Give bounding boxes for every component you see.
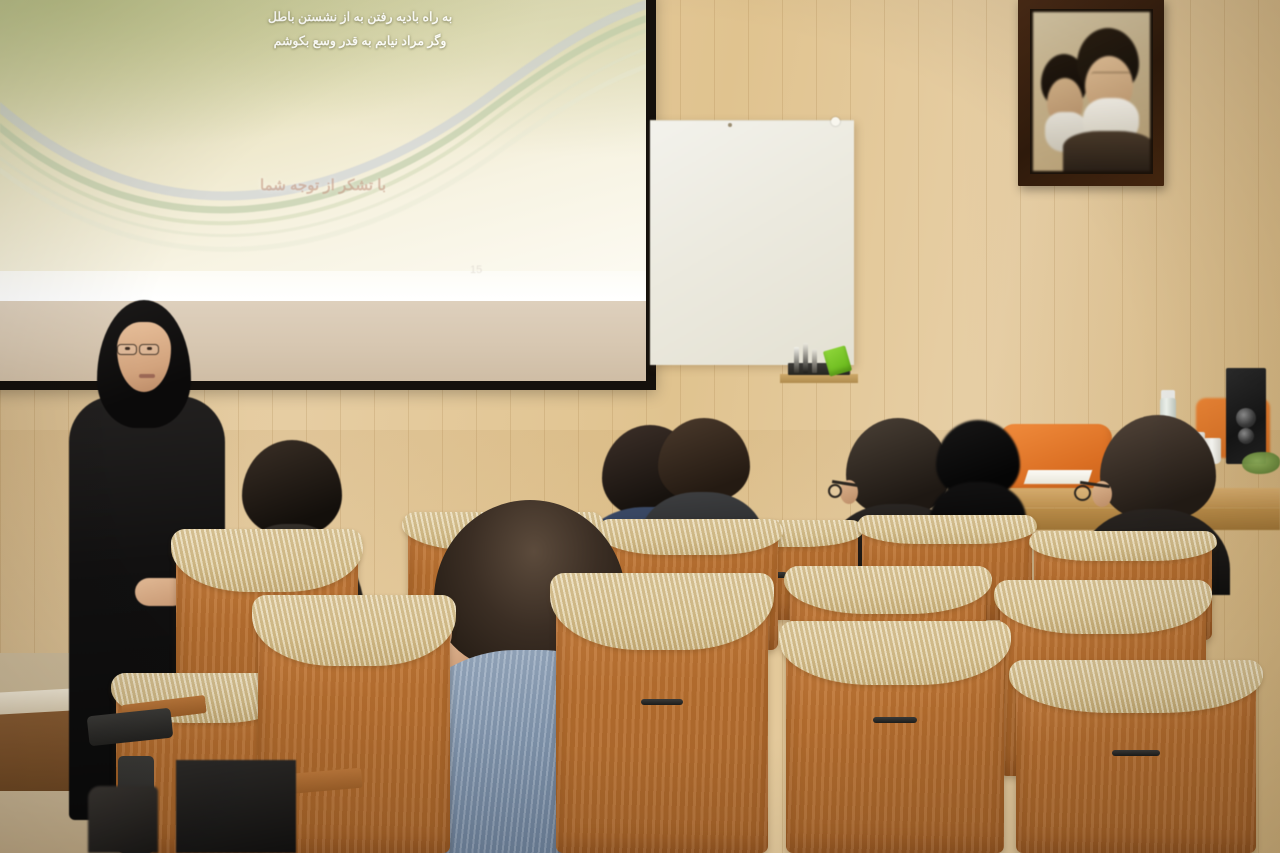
- conference-room-photo: به راه بادیه رفتن به از نشستن باطل وگر م…: [0, 0, 1280, 853]
- presenter-mouth: [139, 374, 155, 378]
- attendee-far-right-hair: [1100, 415, 1216, 521]
- attendee-shoe-foreground: [88, 786, 158, 853]
- framed-portrait: [1018, 0, 1164, 186]
- slide-closing-text: با تشکر از توجه شما: [0, 176, 646, 194]
- attendee-legs-foreground: [176, 760, 296, 853]
- slide-verse: به راه بادیه رفتن به از نشستن باطل وگر م…: [268, 5, 452, 54]
- seat-notch: [641, 699, 683, 705]
- whiteboard-tray-shelf: [780, 374, 858, 383]
- presenter-eye-right: [147, 347, 152, 350]
- attendee-far-right-lens: [1074, 485, 1091, 501]
- seat-headrest: [779, 621, 1010, 685]
- slide-verse-line-2: وگر مراد نیابم به قدر وسع بکوشم: [268, 29, 452, 53]
- attendee-mid-center-hair: [658, 418, 750, 502]
- seat-headrest: [1029, 531, 1218, 561]
- seat-notch: [1112, 750, 1160, 756]
- attendee-front-left-hair: [242, 440, 342, 536]
- loudspeaker: [1226, 368, 1266, 464]
- seat-headrest: [252, 595, 456, 666]
- slide-verse-line-1: به راه بادیه رفتن به از نشستن باطل: [268, 5, 452, 29]
- attendee-mid-right-lens: [828, 484, 842, 498]
- portrait-shoulders: [1063, 131, 1150, 171]
- presenter-eye-left: [125, 347, 130, 350]
- seat-row1-right[interactable]: [786, 640, 1004, 853]
- whiteboard-screw: [728, 123, 732, 127]
- slide-page-number: 15: [470, 264, 482, 276]
- marker-black-icon: [803, 343, 808, 373]
- marker-grey-icon: [812, 349, 817, 373]
- seat-notch: [873, 717, 917, 723]
- whiteboard-clip: [831, 117, 840, 126]
- seat-headrest: [784, 566, 992, 614]
- portrait-mat: [1030, 9, 1153, 174]
- portrait-image: [1033, 12, 1150, 171]
- seat-row1-center-right[interactable]: [556, 596, 768, 853]
- portrait-glasses: [1091, 72, 1131, 78]
- whiteboard: [650, 120, 854, 365]
- attendee-right-chador: [930, 420, 1026, 530]
- seat-row1-edge[interactable]: [1016, 676, 1256, 853]
- seat-headrest: [857, 515, 1037, 544]
- speaker-driver-upper: [1236, 408, 1256, 428]
- potted-plant: [1242, 452, 1280, 474]
- marker-white-icon: [794, 347, 799, 373]
- speaker-driver-lower: [1238, 428, 1254, 444]
